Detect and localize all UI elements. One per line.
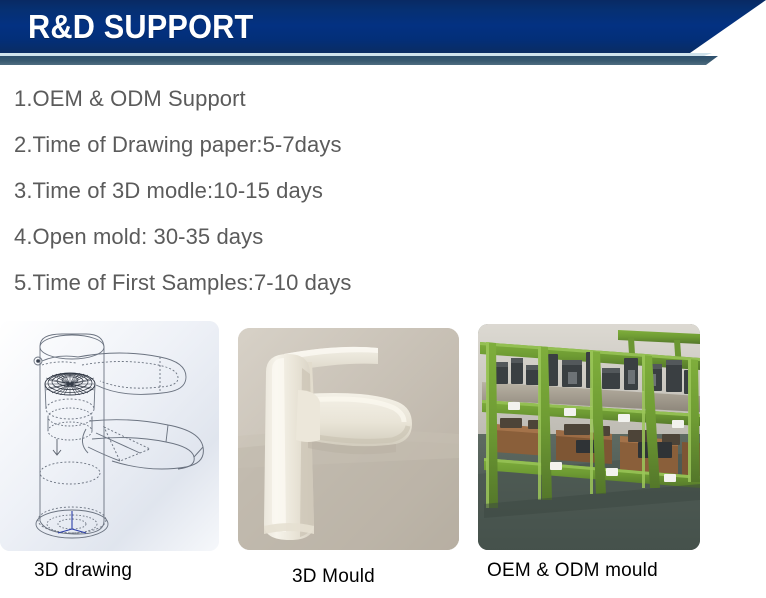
gallery-caption: OEM & ODM mould xyxy=(487,560,658,582)
list-item: 1.OEM & ODM Support xyxy=(0,76,520,122)
list-item: 3.Time of 3D modle:10-15 days xyxy=(0,168,520,214)
page-title: R&D SUPPORT xyxy=(28,6,253,47)
warehouse-mould-racks-image xyxy=(478,324,700,550)
header-hairline-divider xyxy=(0,53,766,56)
gallery-caption: 3D Mould xyxy=(292,566,375,588)
page-header: R&D SUPPORT xyxy=(0,0,766,66)
list-item: 2.Time of Drawing paper:5-7days xyxy=(0,122,520,168)
list-item: 4.Open mold: 30-35 days xyxy=(0,214,520,260)
cad-wireframe-faucet-image xyxy=(0,321,219,551)
list-item: 5.Time of First Samples:7-10 days xyxy=(0,260,520,306)
header-gray-underbar xyxy=(0,56,766,65)
white-3d-printed-faucet-image xyxy=(238,328,459,550)
rd-support-list: 1.OEM & ODM Support 2.Time of Drawing pa… xyxy=(0,76,520,306)
gallery-caption: 3D drawing xyxy=(34,560,132,582)
gallery-row xyxy=(0,320,766,556)
